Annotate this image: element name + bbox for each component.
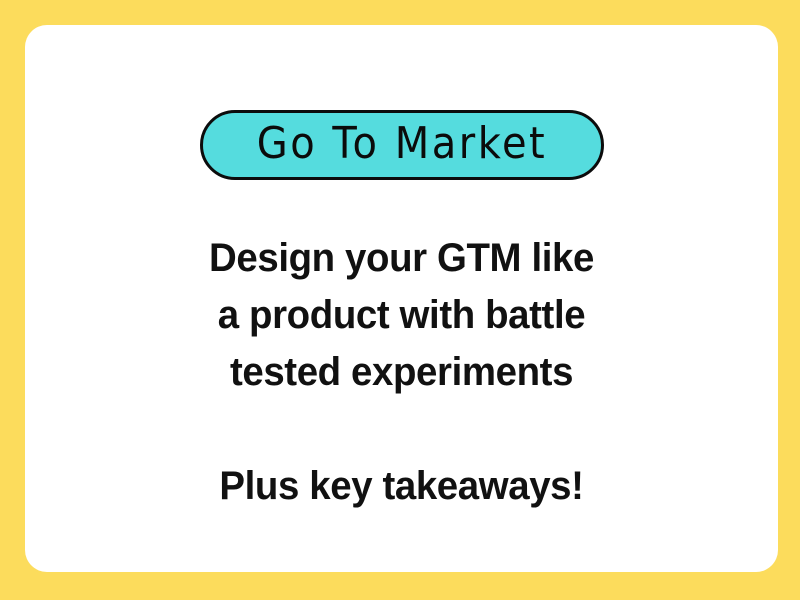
- headline-line-3: tested experiments: [40, 344, 763, 401]
- headline-line-5: Plus key takeaways!: [40, 458, 763, 515]
- badge-label: Go To Market: [257, 122, 548, 168]
- headline-line-spacer: [40, 401, 763, 458]
- slide-canvas: Go To Market Design your GTM like a prod…: [0, 0, 800, 600]
- go-to-market-badge[interactable]: Go To Market: [200, 110, 604, 180]
- card-inner: Go To Market Design your GTM like a prod…: [25, 25, 778, 572]
- badge-container: Go To Market: [200, 110, 604, 180]
- headline-line-1: Design your GTM like: [40, 230, 763, 287]
- headline-block: Design your GTM like a product with batt…: [25, 230, 778, 515]
- content-card: Go To Market Design your GTM like a prod…: [25, 25, 778, 572]
- headline-line-2: a product with battle: [40, 287, 763, 344]
